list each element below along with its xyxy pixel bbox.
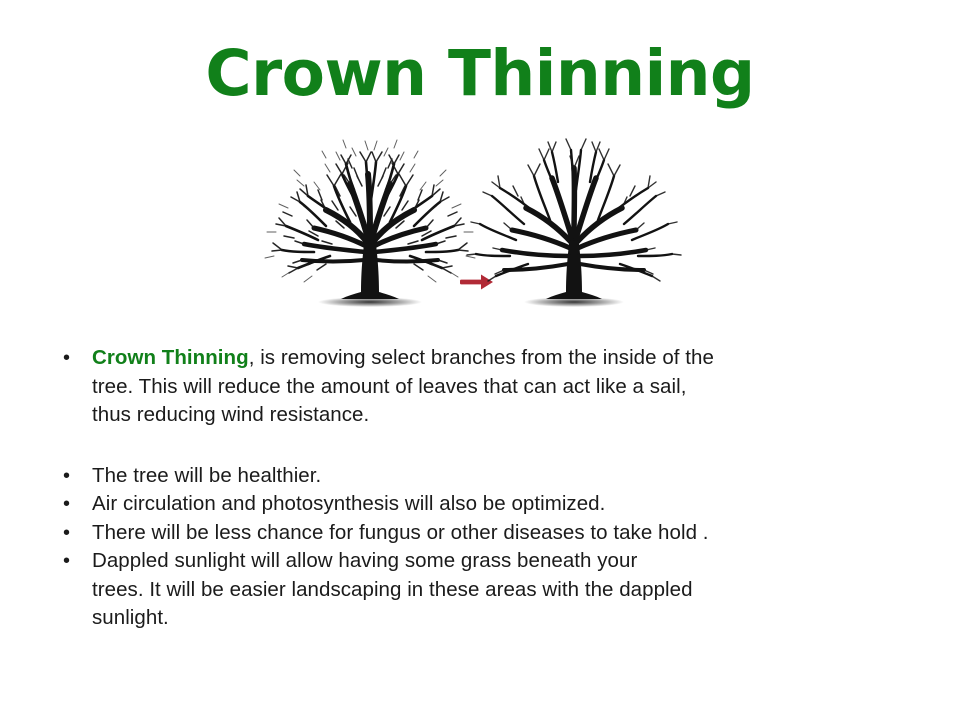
page-title: Crown Thinning	[0, 36, 960, 112]
bullet-list: • Crown Thinning, is removing select bra…	[58, 344, 908, 633]
list-item: • There will be less chance for fungus o…	[58, 519, 908, 548]
crown-thinning-illustration	[252, 132, 682, 314]
bullet-text: The tree will be healthier.	[92, 462, 908, 491]
list-item: • Crown Thinning, is removing select bra…	[58, 344, 908, 430]
bullet-marker: •	[58, 547, 92, 576]
slide-root: { "slide": { "title": "Crown Thinning", …	[0, 0, 960, 720]
bullet-text: Crown Thinning, is removing select branc…	[92, 344, 908, 430]
bullet-text: Dappled sunlight will allow having some …	[92, 547, 908, 633]
bullet-text: There will be less chance for fungus or …	[92, 519, 908, 548]
bullet-marker: •	[58, 344, 92, 373]
dense-tree-before	[265, 140, 475, 307]
right-arrow-icon	[460, 275, 493, 290]
list-item: • Dappled sunlight will allow having som…	[58, 547, 908, 633]
list-item: • The tree will be healthier.	[58, 462, 908, 491]
bullet-marker: •	[58, 519, 92, 548]
bullet-keyword: Crown Thinning	[92, 346, 249, 369]
bullet-text: Air circulation and photosynthesis will …	[92, 490, 908, 519]
bullet-marker: •	[58, 462, 92, 491]
thinned-tree-after	[467, 139, 681, 307]
bullet-marker: •	[58, 490, 92, 519]
list-item: • Air circulation and photosynthesis wil…	[58, 490, 908, 519]
